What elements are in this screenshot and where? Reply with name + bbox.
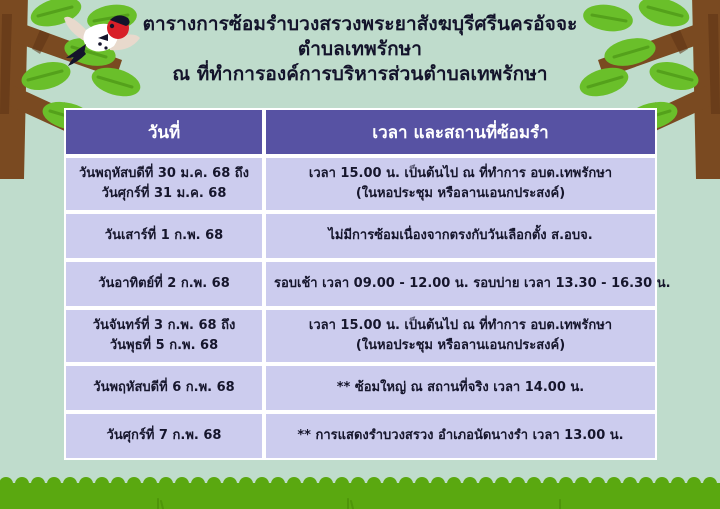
table-row: วันพฤหัสบดีที่ 30 ม.ค. 68 ถึงวันศุกร์ที่…	[64, 156, 657, 212]
page-title: ตารางการซ้อมรำบวงสรวงพระยาสังฆบุรีศรีนคร…	[0, 12, 720, 87]
cell-date: วันพฤหัสบดีที่ 6 ก.พ. 68	[64, 364, 264, 412]
cell-info-line: รอบเช้า เวลา 09.00 - 12.00 น. รอบบ่าย เว…	[274, 274, 647, 294]
cell-info-line: ** ซ้อมใหญ่ ณ สถานที่จริง เวลา 14.00 น.	[274, 378, 647, 398]
cell-info-line: ไม่มีการซ้อมเนื่องจากตรงกับวันเลือกตั้ง …	[274, 226, 647, 246]
table-body: วันพฤหัสบดีที่ 30 ม.ค. 68 ถึงวันศุกร์ที่…	[64, 156, 657, 460]
cell-info-line: (ในหอประชุม หรือลานเอนกประสงค์)	[274, 336, 647, 356]
cell-info-line: (ในหอประชุม หรือลานเอนกประสงค์)	[274, 184, 647, 204]
schedule-table: วันที่ เวลา และสถานที่ซ้อมรำ วันพฤหัสบดี…	[64, 108, 657, 460]
cell-date-line: วันศุกร์ที่ 7 ก.พ. 68	[74, 426, 254, 446]
table-row: วันเสาร์ที่ 1 ก.พ. 68ไม่มีการซ้อมเนื่องจ…	[64, 212, 657, 260]
table-row: วันจันทร์ที่ 3 ก.พ. 68 ถึงวันพุธที่ 5 ก.…	[64, 308, 657, 364]
cell-info-line: เวลา 15.00 น. เป็นต้นไป ณ ที่ทำการ อบต.เ…	[274, 164, 647, 184]
cell-date: วันจันทร์ที่ 3 ก.พ. 68 ถึงวันพุธที่ 5 ก.…	[64, 308, 264, 364]
cell-info: รอบเช้า เวลา 09.00 - 12.00 น. รอบบ่าย เว…	[264, 260, 657, 308]
table-header-row: วันที่ เวลา และสถานที่ซ้อมรำ	[64, 108, 657, 156]
cell-info: เวลา 15.00 น. เป็นต้นไป ณ ที่ทำการ อบต.เ…	[264, 156, 657, 212]
title-line-3: ณ ที่ทำการองค์การบริหารส่วนตำบลเทพรักษา	[0, 62, 720, 87]
cell-date-line: วันพฤหัสบดีที่ 6 ก.พ. 68	[74, 378, 254, 398]
cell-date: วันเสาร์ที่ 1 ก.พ. 68	[64, 212, 264, 260]
table-header: วันที่ เวลา และสถานที่ซ้อมรำ	[64, 108, 657, 156]
cell-date: วันพฤหัสบดีที่ 30 ม.ค. 68 ถึงวันศุกร์ที่…	[64, 156, 264, 212]
table-row: วันพฤหัสบดีที่ 6 ก.พ. 68** ซ้อมใหญ่ ณ สถ…	[64, 364, 657, 412]
cell-date-line: วันพุธที่ 5 ก.พ. 68	[74, 336, 254, 356]
column-header-date: วันที่	[64, 108, 264, 156]
cell-date: วันอาทิตย์ที่ 2 ก.พ. 68	[64, 260, 264, 308]
title-line-1: ตารางการซ้อมรำบวงสรวงพระยาสังฆบุรีศรีนคร…	[0, 12, 720, 37]
cell-date-line: วันเสาร์ที่ 1 ก.พ. 68	[74, 226, 254, 246]
cell-date-line: วันศุกร์ที่ 31 ม.ค. 68	[74, 184, 254, 204]
cell-info-line: เวลา 15.00 น. เป็นต้นไป ณ ที่ทำการ อบต.เ…	[274, 316, 647, 336]
column-header-info: เวลา และสถานที่ซ้อมรำ	[264, 108, 657, 156]
cell-info: เวลา 15.00 น. เป็นต้นไป ณ ที่ทำการ อบต.เ…	[264, 308, 657, 364]
cell-date-line: วันพฤหัสบดีที่ 30 ม.ค. 68 ถึง	[74, 164, 254, 184]
table-row: วันอาทิตย์ที่ 2 ก.พ. 68รอบเช้า เวลา 09.0…	[64, 260, 657, 308]
cell-date-line: วันจันทร์ที่ 3 ก.พ. 68 ถึง	[74, 316, 254, 336]
cell-info: ไม่มีการซ้อมเนื่องจากตรงกับวันเลือกตั้ง …	[264, 212, 657, 260]
cell-date-line: วันอาทิตย์ที่ 2 ก.พ. 68	[74, 274, 254, 294]
cell-info-line: ** การแสดงรำบวงสรวง อำเภอนัดนางรำ เวลา 1…	[274, 426, 647, 446]
grass-strip-icon	[0, 475, 720, 509]
cell-info: ** การแสดงรำบวงสรวง อำเภอนัดนางรำ เวลา 1…	[264, 412, 657, 460]
title-line-2: ตำบลเทพรักษา	[0, 37, 720, 62]
cell-info: ** ซ้อมใหญ่ ณ สถานที่จริง เวลา 14.00 น.	[264, 364, 657, 412]
table-row: วันศุกร์ที่ 7 ก.พ. 68** การแสดงรำบวงสรวง…	[64, 412, 657, 460]
cell-date: วันศุกร์ที่ 7 ก.พ. 68	[64, 412, 264, 460]
